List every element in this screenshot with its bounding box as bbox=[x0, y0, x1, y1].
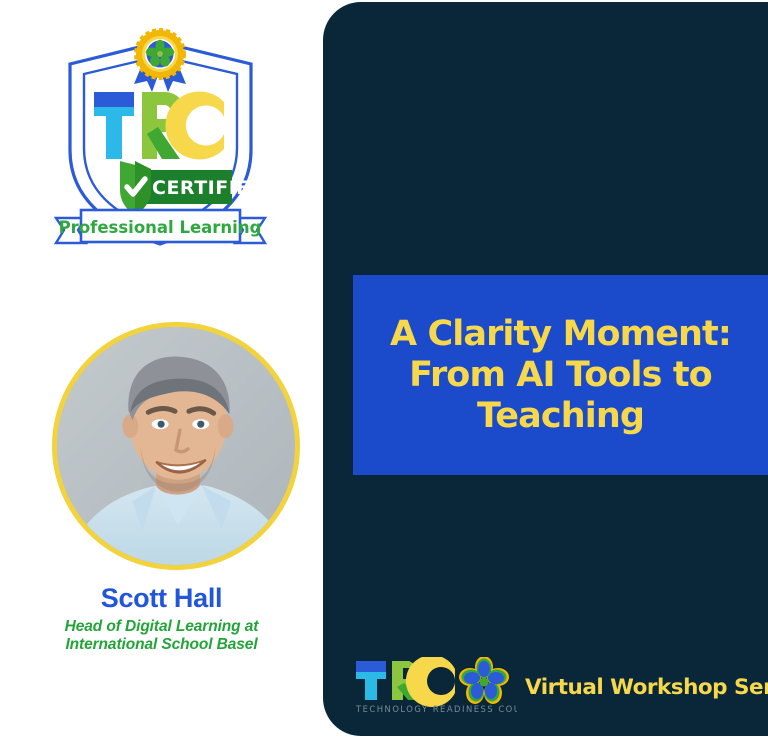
pinwheel-flower-icon bbox=[459, 657, 509, 704]
footer-trc-logo-graphic: TECHNOLOGY READINESS COUNCIL bbox=[354, 657, 517, 717]
session-title-band: A Clarity Moment: From AI Tools to Teach… bbox=[353, 275, 768, 475]
speaker-role: Head of Digital Learning at Internationa… bbox=[0, 618, 323, 654]
speaker-role-line-1: Head of Digital Learning at bbox=[0, 618, 323, 636]
svg-text:Professional Learning: Professional Learning bbox=[59, 218, 262, 237]
speaker-photo bbox=[52, 322, 300, 570]
speaker-headshot-illustration bbox=[57, 327, 295, 565]
footer-tagline: TECHNOLOGY READINESS COUNCIL bbox=[355, 704, 517, 714]
footer-series-label: Virtual Workshop Series bbox=[525, 675, 768, 700]
badge-ribbon: Professional Learning bbox=[56, 210, 265, 243]
session-title-line-3: Teaching bbox=[390, 396, 731, 437]
speaker-role-line-2: International School Basel bbox=[0, 636, 323, 654]
certification-badge-graphic: CERTIFIED Professional Learning bbox=[48, 22, 273, 252]
certification-badge: CERTIFIED Professional Learning bbox=[48, 22, 273, 252]
speaker-name: Scott Hall bbox=[0, 583, 323, 614]
session-title: A Clarity Moment: From AI Tools to Teach… bbox=[378, 314, 743, 437]
left-panel: CERTIFIED Professional Learning bbox=[0, 0, 323, 747]
session-panel: A Clarity Moment: From AI Tools to Teach… bbox=[323, 2, 768, 736]
footer-trc-logo: TECHNOLOGY READINESS COUNCIL bbox=[354, 657, 517, 717]
session-title-line-1: A Clarity Moment: bbox=[390, 314, 731, 355]
footer: TECHNOLOGY READINESS COUNCIL Virtual Wor… bbox=[354, 656, 764, 718]
session-title-line-2: From AI Tools to bbox=[390, 355, 731, 396]
award-rosette-icon bbox=[136, 30, 184, 78]
svg-text:CERTIFIED: CERTIFIED bbox=[152, 177, 266, 199]
